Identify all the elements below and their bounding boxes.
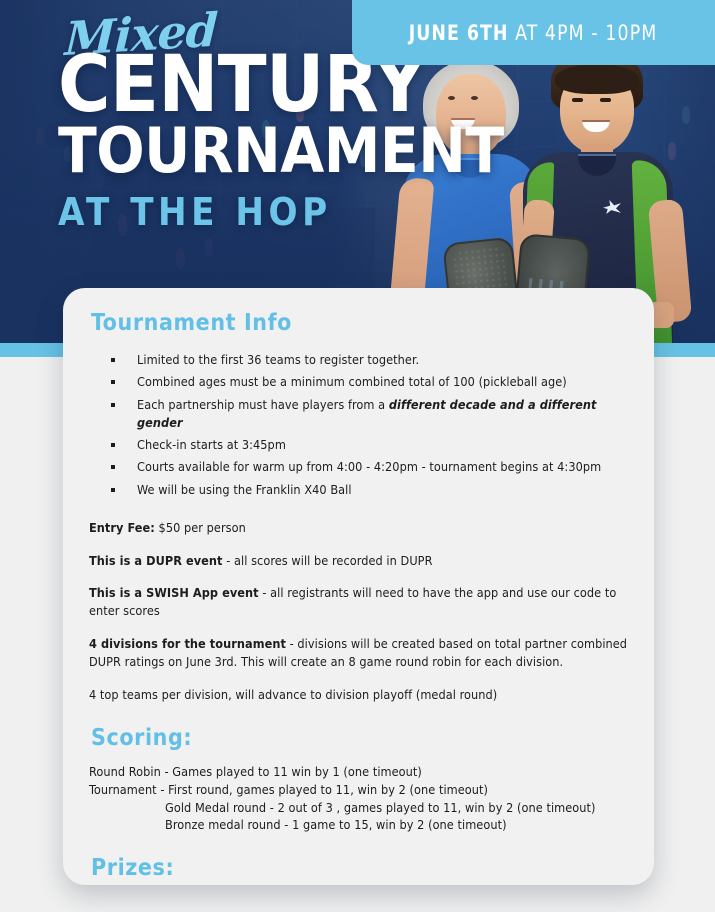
tournament-info-list: Limited to the first 36 teams to registe… [111,351,628,499]
list-item: Limited to the first 36 teams to registe… [111,351,628,369]
detail-label: This is a SWISH App event [89,585,259,600]
detail-paragraph: 4 divisions for the tournament - divisio… [89,635,628,671]
list-item: Courts available for warm up from 4:00 -… [111,458,628,476]
date-time-banner: JUNE 6TH AT 4PM - 10PM [352,0,715,65]
list-item-text: Each partnership must have players from … [137,397,389,412]
detail-text: $50 per person [155,520,246,535]
scoring-line: Gold Medal round - 2 out of 3 , games pl… [89,799,628,817]
tournament-info-heading: Tournament Info [91,310,628,336]
scoring-line: Tournament - First round, games played t… [89,781,628,799]
detail-label: 4 divisions for the tournament [89,636,286,651]
list-item-text: Courts available for warm up from 4:00 -… [137,459,601,474]
detail-label: This is a DUPR event [89,553,223,568]
detail-paragraph: This is a DUPR event - all scores will b… [89,552,628,570]
bullet-square-icon [111,358,115,362]
info-card: Tournament Info Limited to the first 36 … [63,288,654,885]
prizes-heading: Prizes: [91,855,628,881]
detail-paragraph: This is a SWISH App event - all registra… [89,584,628,620]
scoring-line: Bronze medal round - 1 game to 15, win b… [89,816,628,834]
detail-paragraph: 4 top teams per division, will advance t… [89,686,628,704]
hero-subtitle: AT THE HOP [58,190,488,234]
bullet-square-icon [111,443,115,447]
bullet-square-icon [111,403,115,407]
scoring-list: Round Robin - Games played to 11 win by … [89,763,628,835]
banner-time: AT 4PM - 10PM [515,21,657,45]
scoring-line: Round Robin - Games played to 11 win by … [89,763,628,781]
list-item-text: Combined ages must be a minimum combined… [137,374,567,389]
bullet-square-icon [111,380,115,384]
detail-text: - all scores will be recorded in DUPR [223,553,433,568]
detail-text: 4 top teams per division, will advance t… [89,687,497,702]
list-item: We will be using the Franklin X40 Ball [111,481,628,499]
detail-label: Entry Fee: [89,520,155,535]
detail-paragraph: Entry Fee: $50 per person [89,519,628,537]
list-item-text: Limited to the first 36 teams to registe… [137,352,419,367]
tournament-details: Entry Fee: $50 per person This is a DUPR… [89,519,628,704]
list-item: Check-in starts at 3:45pm [111,436,628,454]
list-item-text: We will be using the Franklin X40 Ball [137,482,352,497]
bullet-square-icon [111,488,115,492]
banner-date: JUNE 6TH [409,21,509,45]
list-item: Each partnership must have players from … [111,396,628,432]
hero-title-line-2: TOURNAMENT [58,126,497,177]
list-item-text: Check-in starts at 3:45pm [137,437,286,452]
bullet-square-icon [111,465,115,469]
list-item: Combined ages must be a minimum combined… [111,373,628,391]
scoring-heading: Scoring: [91,725,628,751]
